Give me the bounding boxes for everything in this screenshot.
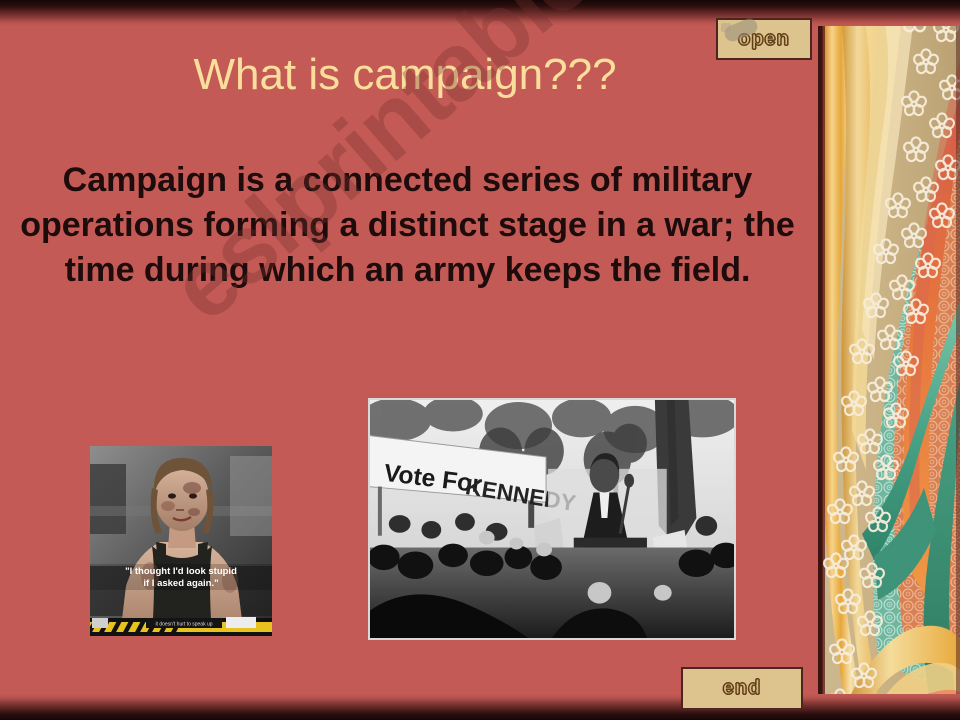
page-title: What is campaign??? <box>0 52 810 98</box>
top-vignette <box>0 0 960 26</box>
ppe-safety-ad-photo: "I thought I'd look stupid if I asked ag… <box>90 446 272 636</box>
end-button[interactable]: end <box>681 667 803 710</box>
svg-text:if I asked again.": if I asked again." <box>143 578 218 589</box>
svg-text:it doesn't hurt to speak up: it doesn't hurt to speak up <box>155 622 212 628</box>
svg-text:"I thought I'd look stupid: "I thought I'd look stupid <box>125 566 237 577</box>
open-button[interactable]: open <box>716 18 812 60</box>
kennedy-rally-illustration: Vote For KENNEDY <box>370 400 734 638</box>
slide-body-text: Campaign is a connected series of milita… <box>20 158 795 293</box>
bottom-vignette <box>0 694 960 720</box>
open-button-label: open <box>738 28 790 51</box>
presentation-slide: What is campaign??? Campaign is a connec… <box>0 0 960 720</box>
floral-ribbon-border <box>818 0 960 720</box>
end-button-label: end <box>723 677 762 700</box>
kennedy-campaign-rally-photo: Vote For KENNEDY <box>368 398 736 640</box>
smudge-artifact-small <box>721 23 731 32</box>
ppe-safety-ad-illustration: "I thought I'd look stupid if I asked ag… <box>90 446 272 636</box>
border-artwork <box>818 0 960 720</box>
